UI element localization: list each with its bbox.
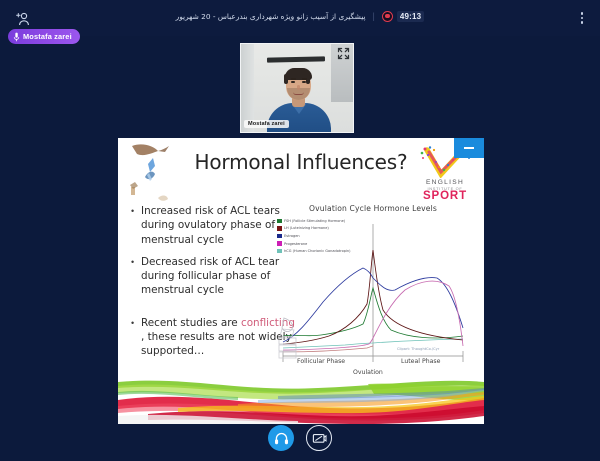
- microphone-icon: [13, 32, 20, 42]
- audio-headphone-button[interactable]: [268, 425, 294, 451]
- record-icon: [382, 11, 393, 22]
- bullet-text-1: Increased risk of ACL tears during ovula…: [141, 204, 296, 247]
- recording-indicator[interactable]: 49:13: [382, 11, 424, 22]
- person-nose: [297, 85, 300, 90]
- chart-xtick-luteal: Luteal Phase: [401, 358, 440, 365]
- overflow-menu-button[interactable]: [574, 8, 590, 28]
- chart-source-note: Clipart: ThoughtCo./Cyr: [397, 347, 439, 351]
- person-eyebrow-left: [291, 78, 296, 80]
- meeting-timer: 49:13: [397, 11, 424, 22]
- minimize-icon: [464, 147, 474, 149]
- screen-share-button[interactable]: [306, 425, 332, 451]
- person-eyebrow-right: [302, 78, 307, 80]
- list-item: • Decreased risk of ACL tear during foll…: [131, 255, 296, 298]
- separator: |: [373, 11, 375, 21]
- chart-xaxis-label: Ovulation: [353, 369, 383, 376]
- person-mouth: [293, 92, 304, 95]
- bullet-dot: •: [131, 204, 136, 247]
- logo-line-english: ENGLISH: [426, 179, 464, 186]
- self-name-label: Mostafa zarei: [23, 32, 72, 41]
- bullet-3-pre: Recent studies are: [141, 317, 241, 329]
- headphone-icon: [274, 431, 289, 446]
- expand-fullscreen-icon[interactable]: [337, 47, 350, 60]
- self-name-badge[interactable]: Mostafa zarei: [8, 29, 80, 44]
- person-hair-right: [306, 74, 310, 84]
- meeting-info: پیشگیری از آسیب زانو ویژه شهرداری بندرعب…: [0, 0, 600, 32]
- more-vertical-icon-dot-2: [581, 17, 584, 20]
- person-hair-left: [284, 74, 288, 84]
- top-bar: پیشگیری از آسیب زانو ویژه شهرداری بندرعب…: [0, 0, 600, 36]
- screen-share-icon: [312, 431, 327, 446]
- logo-line-sport: SPORT: [423, 191, 467, 202]
- minimize-presentation-button[interactable]: [454, 138, 484, 158]
- video-participant-label: Mostafa zarei: [244, 120, 289, 128]
- bullet-text-2: Decreased risk of ACL tear during follic…: [141, 255, 296, 298]
- more-vertical-icon-dot-3: [581, 21, 584, 24]
- shared-presentation-slide[interactable]: Hormonal Influences? ENGLISH: [118, 138, 484, 424]
- meeting-controls-bar: [0, 421, 600, 455]
- decorative-ribbon-footer: [118, 380, 484, 424]
- decorative-knee-clipart: [270, 316, 308, 364]
- bullet-dot: •: [131, 255, 136, 298]
- meeting-window: پیشگیری از آسیب زانو ویژه شهرداری بندرعب…: [0, 0, 600, 461]
- meeting-title: پیشگیری از آسیب زانو ویژه شهرداری بندرعب…: [176, 12, 366, 21]
- video-tile-self[interactable]: Mostafa zarei: [240, 43, 354, 133]
- list-item: • Increased risk of ACL tears during ovu…: [131, 204, 296, 247]
- more-vertical-icon-dot-1: [581, 12, 584, 15]
- bullet-dot: •: [131, 316, 136, 359]
- chart-title: Ovulation Cycle Hormone Levels: [275, 204, 471, 213]
